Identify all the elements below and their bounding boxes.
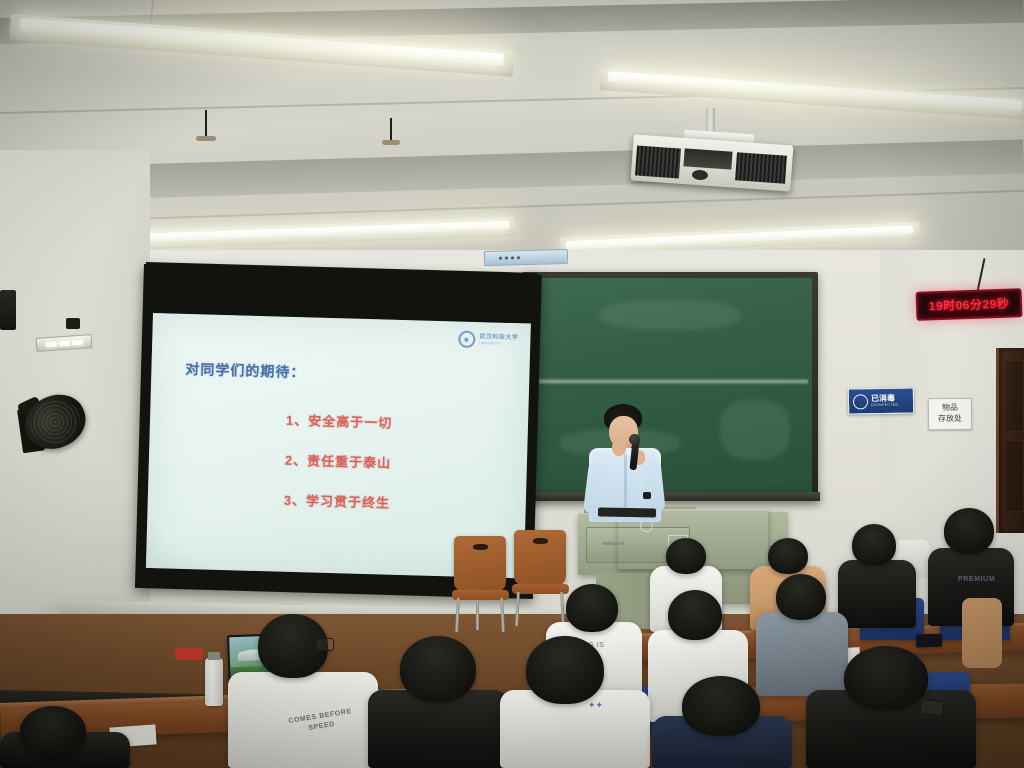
lamp-segment xyxy=(71,339,82,345)
chalk-streak xyxy=(600,300,740,330)
chair-handle-slot xyxy=(533,538,548,544)
chalk-streak xyxy=(720,400,790,460)
led-clock: 19时06分29秒 xyxy=(916,288,1023,321)
bottle-cap xyxy=(208,652,220,660)
slide-bullet-2: 2、责任重于泰山 xyxy=(285,450,392,472)
slide-heading: 对同学们的期待： xyxy=(185,359,306,382)
wall-speaker xyxy=(0,290,16,330)
chair-leg xyxy=(560,592,565,626)
student-head xyxy=(682,676,760,736)
storage-sign-line1: 物品 xyxy=(942,403,958,414)
av-control-panel[interactable] xyxy=(484,249,568,266)
control-indicator xyxy=(505,256,508,259)
wooden-chair[interactable] xyxy=(512,530,570,626)
classroom-scene: 武汉科技大学 UNIVERSITY 对同学们的期待： 1、安全高于一切 2、责任… xyxy=(0,0,1024,768)
lamp-bracket xyxy=(66,318,80,329)
student-body xyxy=(756,612,848,696)
presenter-belt xyxy=(598,507,656,517)
eyeglasses xyxy=(316,638,334,651)
pendant-cord xyxy=(390,118,392,142)
led-clock-text: 19时06分29秒 xyxy=(928,295,1009,315)
control-indicator xyxy=(499,257,502,260)
student-head xyxy=(526,636,604,704)
chair-leg xyxy=(476,600,479,630)
chalk-tray xyxy=(520,492,820,501)
student-arm xyxy=(962,598,1002,668)
storage-sign-line2: 存放处 xyxy=(938,414,962,425)
chair-leg xyxy=(455,598,460,632)
student-head xyxy=(852,524,896,566)
presenter-wristwatch xyxy=(643,492,651,499)
student-shirt-logo: ✦✦ xyxy=(588,700,603,711)
emblem-icon xyxy=(458,331,475,348)
lamp-segment xyxy=(58,340,69,346)
storage-sign: 物品 存放处 xyxy=(928,398,972,430)
student-head xyxy=(776,574,826,620)
wooden-chair[interactable] xyxy=(452,536,510,632)
student-body xyxy=(838,560,916,628)
student-head xyxy=(944,508,994,554)
student-head xyxy=(566,584,618,632)
pendant-cord xyxy=(205,110,207,138)
student-head xyxy=(666,538,706,574)
student-head xyxy=(668,590,722,640)
disinfected-sign: 已消毒 DISINFECTED xyxy=(848,387,914,414)
classroom-door[interactable] xyxy=(996,348,1024,533)
ceiling-projector xyxy=(632,140,802,196)
pendant-base xyxy=(382,140,400,145)
control-indicator xyxy=(517,256,520,259)
door-panel xyxy=(1004,360,1024,432)
projector-top-detail xyxy=(683,148,732,169)
warning-label xyxy=(175,648,203,660)
seal-icon xyxy=(853,394,868,409)
water-bottle[interactable] xyxy=(205,658,223,706)
chalk-dust-line xyxy=(534,378,808,385)
student-head xyxy=(768,538,808,574)
pendant-base xyxy=(196,136,216,141)
student-head xyxy=(844,646,928,710)
smartphone[interactable] xyxy=(916,634,942,648)
projector-vent xyxy=(735,152,787,183)
chair-leg xyxy=(500,598,505,632)
slide-bullet-3: 3、学习贯于终生 xyxy=(284,490,391,512)
chair-leg xyxy=(515,592,520,626)
disinfected-sign-subtext: DISINFECTED xyxy=(871,403,898,407)
presenter-left-hand xyxy=(612,440,626,456)
projector-vent xyxy=(635,146,681,179)
lamp-segment xyxy=(45,341,56,347)
student-head xyxy=(20,706,86,756)
student-shirt-print: PREMIUM xyxy=(958,576,995,583)
eyeglasses xyxy=(919,699,944,716)
slide-university-logo: 武汉科技大学 UNIVERSITY xyxy=(458,331,518,350)
chair-handle-slot xyxy=(473,544,488,550)
logo-subtitle: UNIVERSITY xyxy=(479,341,518,346)
drawer-handle[interactable] xyxy=(602,542,624,545)
slide-bullet-1: 1、安全高于一切 xyxy=(286,410,393,432)
student-head xyxy=(400,636,476,702)
control-indicator xyxy=(511,256,514,259)
microphone-head xyxy=(629,434,640,445)
door-panel xyxy=(1004,440,1024,512)
presenter-shirt-placket xyxy=(624,454,627,514)
